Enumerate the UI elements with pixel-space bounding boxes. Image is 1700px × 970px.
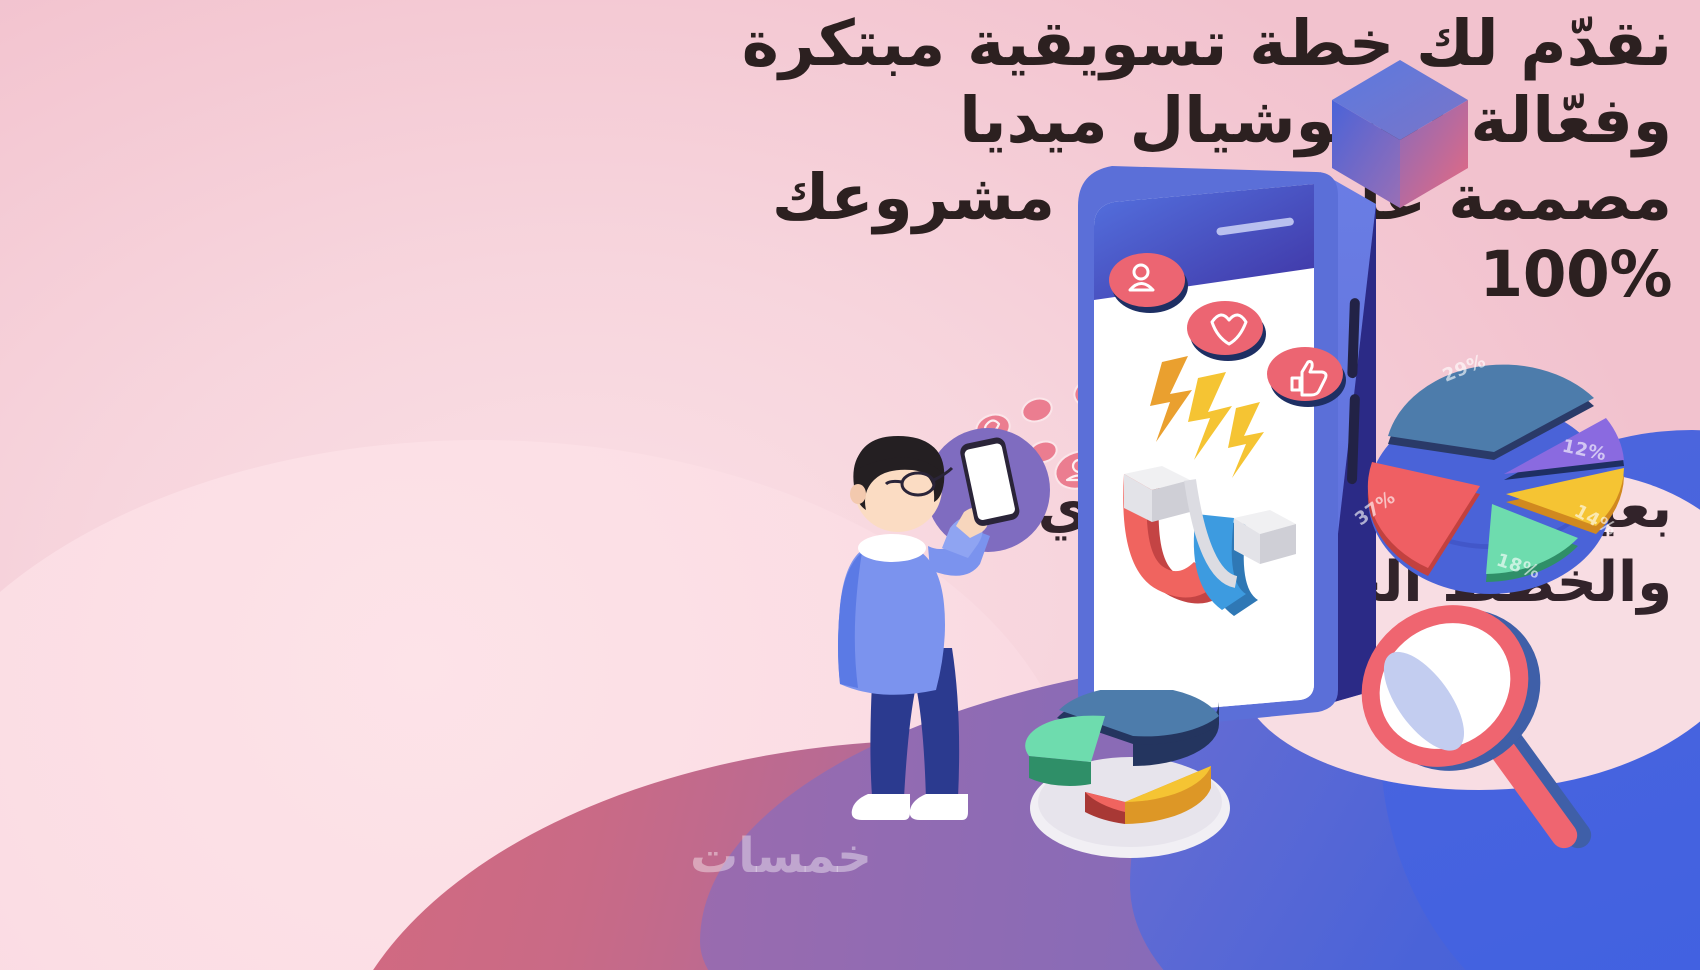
headline-line-2: وفعّالة للسوشيال ميديا <box>772 83 1672 160</box>
pie-chart-3d <box>1005 690 1255 870</box>
headline-line-1: نقدّم لك خطة تسويقية مبتكرة <box>772 6 1672 83</box>
banner-canvas: نقدّم لك خطة تسويقية مبتكرة وفعّالة للسو… <box>0 0 1700 970</box>
watermark-logo: خمسات <box>690 828 872 884</box>
magnifier-icon <box>1345 600 1615 890</box>
